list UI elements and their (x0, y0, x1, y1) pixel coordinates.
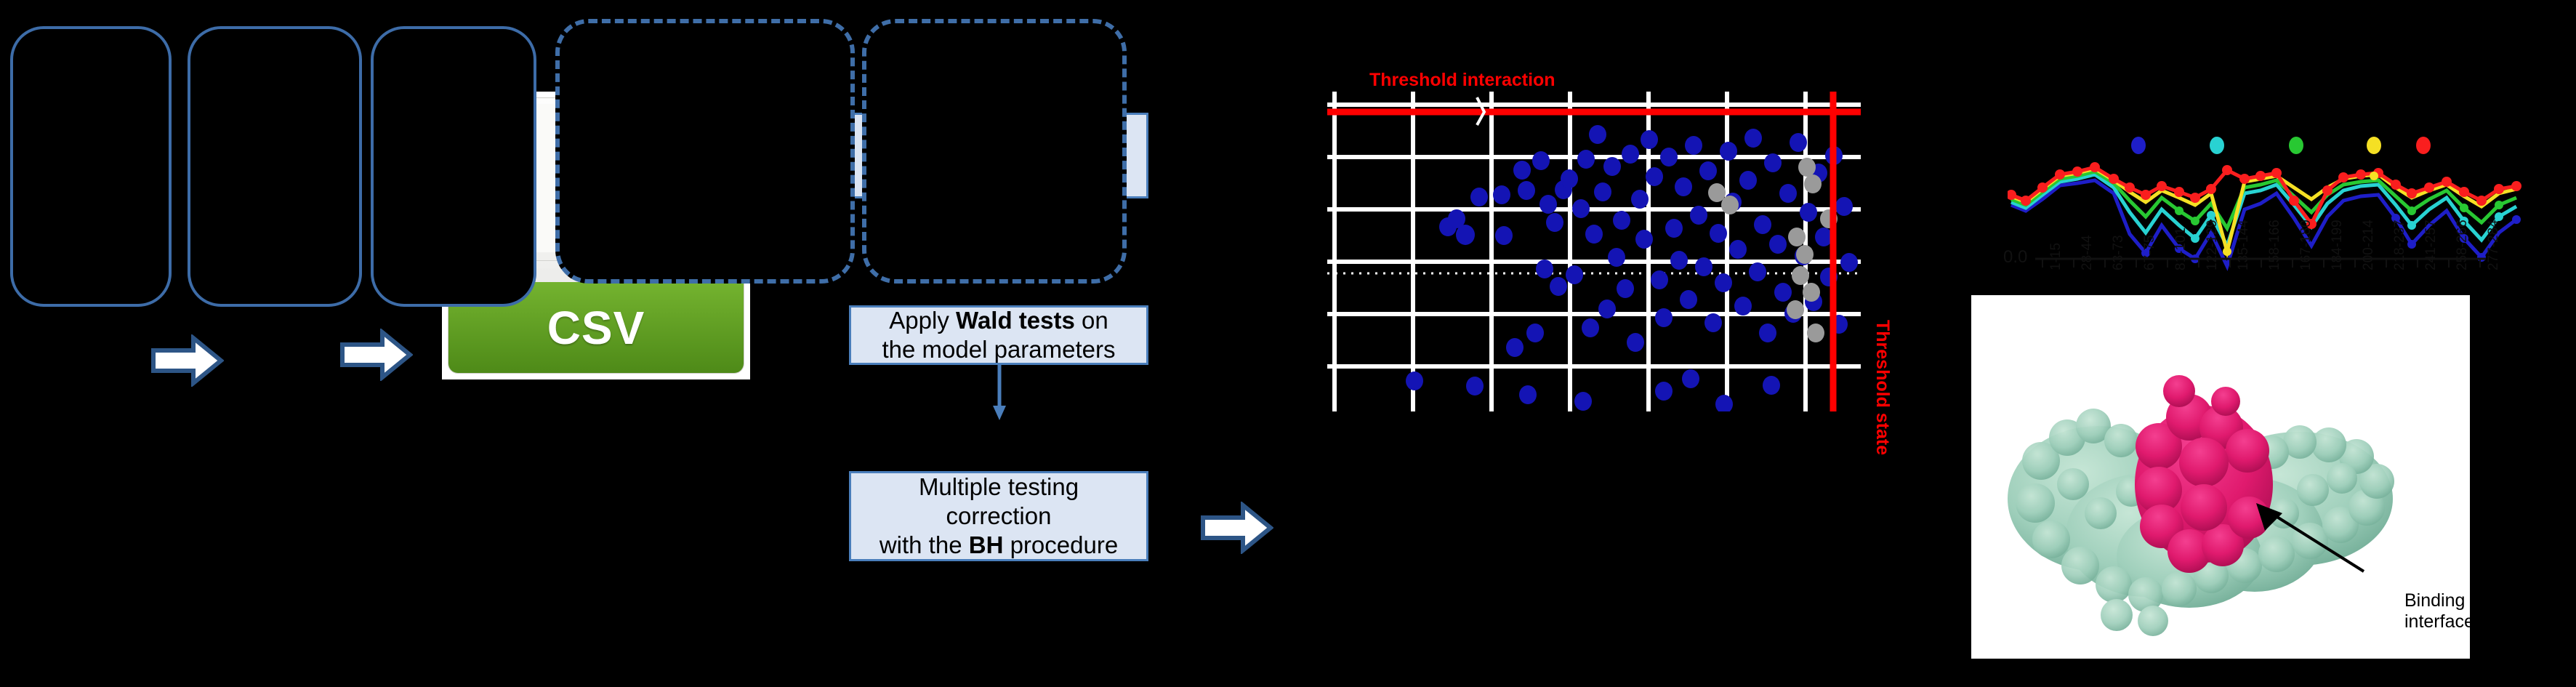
peptide-tick-12: 241-257 (2423, 220, 2439, 270)
y-axis-tick-0: 0.0 (2003, 247, 2027, 268)
panel-results (862, 19, 1127, 284)
wald-emphasis: Wald tests (956, 307, 1075, 334)
step-wald-line2: the model parameters (882, 335, 1116, 364)
threshold-scatter-plot (1327, 92, 1861, 411)
panel-data (188, 26, 362, 307)
threshold-interaction-label: Threshold interaction (1369, 70, 1555, 91)
peptide-tick-10: 200-214 (2361, 220, 2377, 270)
peptide-tick-4: 81-101 (2173, 228, 2189, 270)
step-wald-line1: Apply Wald tests on (889, 306, 1108, 335)
peptide-tick-6: 135-144 (2236, 220, 2252, 270)
peptide-tick-13: 258-266 (2455, 220, 2471, 270)
peptide-tick-11: 218-237 (2392, 220, 2408, 270)
peptide-tick-3: 67-75 (2142, 235, 2158, 270)
binding-interface-annotation: Binding interface (2404, 590, 2474, 632)
peptide-tick-0: 1-15 (2048, 243, 2064, 270)
peptide-tick-9: 184-199 (2330, 220, 2346, 270)
step-mt-line1: Multiple testing (919, 473, 1079, 502)
peptide-tick-5: 122-129 (2205, 220, 2221, 270)
peptide-tick-14: 277-284 (2486, 220, 2502, 270)
peptide-tick-1: 28-44 (2080, 235, 2096, 270)
wald-post: on (1075, 307, 1108, 334)
arrow-data-to-stats (340, 329, 413, 381)
bh-emphasis: BH (969, 531, 1004, 558)
panel-input (10, 26, 172, 307)
wald-pre: Apply (889, 307, 956, 334)
workflow-figure: X CSV Fit a linear mixed- effects model … (0, 0, 2576, 687)
protein-structure-card (1971, 295, 2470, 659)
panel-stats (371, 26, 536, 307)
bh-pre: with the (880, 531, 969, 558)
threshold-state-label: Threshold state (1872, 320, 1893, 455)
peptide-axis (2035, 256, 2486, 270)
connector-step2-step3 (990, 365, 1009, 422)
bh-post: procedure (1003, 531, 1118, 558)
binding-interface-line1: Binding (2404, 590, 2474, 611)
peptide-tick-8: 167-180 (2298, 220, 2314, 270)
step-wald-tests: Apply Wald tests on the model parameters (849, 305, 1148, 365)
binding-interface-line2: interface (2404, 611, 2474, 632)
peptide-tick-7: 158-166 (2267, 220, 2283, 270)
arrow-input-to-data (151, 334, 224, 387)
arrow-stats-to-scatter (1201, 502, 1273, 554)
peptide-tick-2: 63-73 (2111, 235, 2127, 270)
step-multiple-testing: Multiple testing correction with the BH … (849, 471, 1148, 561)
panel-scatter (555, 19, 855, 284)
step-mt-line3: with the BH procedure (880, 531, 1118, 560)
protein-surface-structure (1971, 295, 2470, 659)
step-mt-line2: correction (946, 502, 1052, 531)
